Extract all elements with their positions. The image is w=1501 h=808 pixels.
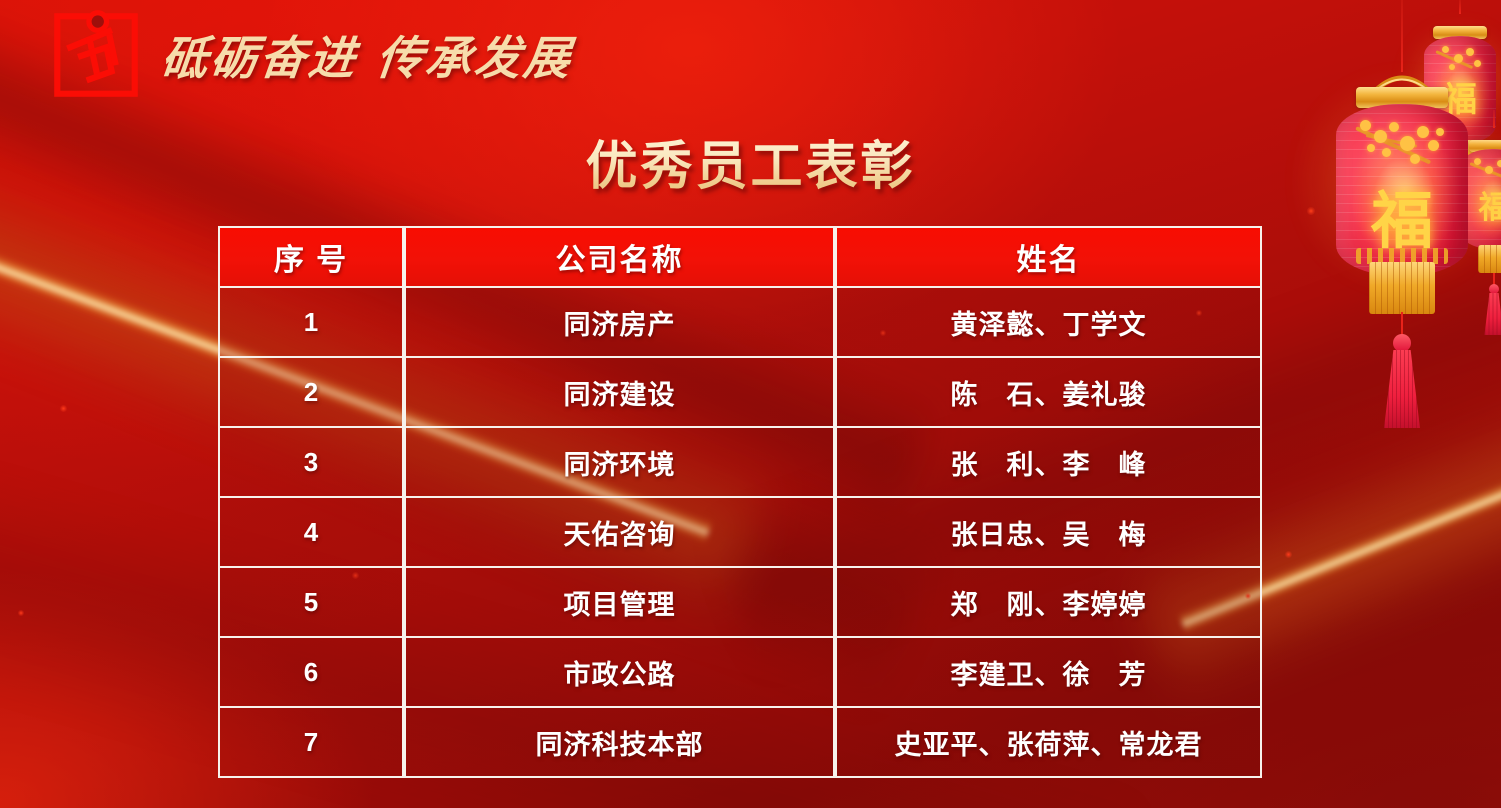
lantern-handle-icon xyxy=(1322,62,1482,96)
page-title: 优秀员工表彰 xyxy=(0,124,1501,199)
table-row: 5 项目管理 郑 刚、李婷婷 xyxy=(218,568,1262,638)
bokeh-dot xyxy=(18,610,24,616)
table-row: 4 天佑咨询 张日忠、吴 梅 xyxy=(218,498,1262,568)
cell-names: 张日忠、吴 梅 xyxy=(835,498,1262,568)
cell-names: 郑 刚、李婷婷 xyxy=(835,568,1262,638)
table-row: 1 同济房产 黄泽懿、丁学文 xyxy=(218,288,1262,358)
cell-org: 同济科技本部 xyxy=(404,708,835,778)
lantern-large: 福 xyxy=(1322,0,1482,420)
cell-no: 5 xyxy=(218,568,404,638)
cell-org: 市政公路 xyxy=(404,638,835,708)
cell-org: 天佑咨询 xyxy=(404,498,835,568)
table-row: 7 同济科技本部 史亚平、张荷萍、常龙君 xyxy=(218,708,1262,778)
cell-org: 项目管理 xyxy=(404,568,835,638)
bokeh-dot xyxy=(1285,551,1292,558)
table-row: 2 同济建设 陈 石、姜礼骏 xyxy=(218,358,1262,428)
brand-lockup: 砥砺奋进 传承发展 xyxy=(52,10,573,100)
cell-org: 同济环境 xyxy=(404,428,835,498)
cell-no: 4 xyxy=(218,498,404,568)
table-row: 3 同济环境 张 利、李 峰 xyxy=(218,428,1262,498)
cell-names: 黄泽懿、丁学文 xyxy=(835,288,1262,358)
fu-character: 福 xyxy=(1418,72,1501,121)
column-header-no: 序 号 xyxy=(218,226,404,288)
slide-canvas: 砥砺奋进 传承发展 优秀员工表彰 序 号 公司名称 姓名 1 同济房产 黄泽懿、… xyxy=(0,0,1501,808)
cell-names: 张 利、李 峰 xyxy=(835,428,1262,498)
cell-names: 陈 石、姜礼骏 xyxy=(835,358,1262,428)
table-header-row: 序 号 公司名称 姓名 xyxy=(218,226,1262,288)
cell-no: 1 xyxy=(218,288,404,358)
slogan-text: 砥砺奋进 传承发展 xyxy=(159,22,577,88)
table-row: 6 市政公路 李建卫、徐 芳 xyxy=(218,638,1262,708)
cell-no: 2 xyxy=(218,358,404,428)
lantern-lace xyxy=(1356,248,1448,264)
cell-org: 同济建设 xyxy=(404,358,835,428)
award-table: 序 号 公司名称 姓名 1 同济房产 黄泽懿、丁学文 2 同济建设 陈 石、姜礼… xyxy=(218,226,1262,778)
column-header-org: 公司名称 xyxy=(404,226,835,288)
cell-no: 3 xyxy=(218,428,404,498)
cell-names: 李建卫、徐 芳 xyxy=(835,638,1262,708)
cell-no: 7 xyxy=(218,708,404,778)
cell-no: 6 xyxy=(218,638,404,708)
tongji-logo-icon xyxy=(52,10,140,100)
bokeh-dot xyxy=(1307,207,1315,215)
cell-org: 同济房产 xyxy=(404,288,835,358)
bokeh-dot xyxy=(60,405,67,412)
column-header-name: 姓名 xyxy=(835,226,1262,288)
cell-names: 史亚平、张荷萍、常龙君 xyxy=(835,708,1262,778)
